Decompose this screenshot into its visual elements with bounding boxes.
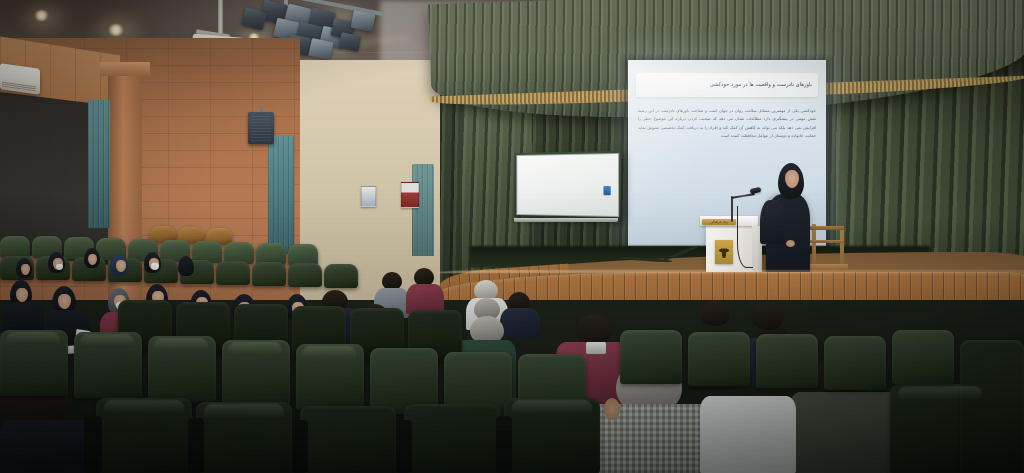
downlight-icon [108, 24, 124, 36]
auditorium-seat[interactable] [620, 330, 682, 384]
whiteboard-surface[interactable] [516, 153, 619, 217]
seat-highlight [80, 334, 134, 346]
audience-person-head [178, 256, 194, 276]
slide-title-band: باورهای نادرست و واقعیت ها در مورد خودکش… [636, 73, 818, 97]
audience-person-torso [790, 392, 900, 473]
wall-notice [361, 186, 376, 207]
wall-notice [401, 182, 419, 208]
audience-person-head [752, 302, 784, 330]
stage-edge-highlight [437, 270, 1024, 273]
auditorium-seat[interactable] [756, 334, 818, 388]
audience-person-hand [604, 398, 620, 420]
microphone-stem [731, 196, 733, 222]
chair-backrest-top [810, 226, 844, 230]
seat-highlight [154, 338, 208, 350]
seat-armrest [292, 420, 308, 473]
seat-highlight [104, 400, 184, 414]
auditorium-seat[interactable] [0, 236, 30, 258]
seat-armrest [188, 418, 204, 473]
side-window-curtain [412, 164, 434, 256]
projector-mount-rod [218, 0, 223, 34]
audience-person-head [474, 280, 498, 300]
seat-highlight [228, 342, 282, 354]
microphone-cable [737, 206, 753, 268]
auditorium-seat[interactable] [404, 404, 500, 473]
wall-speaker-icon [248, 112, 274, 144]
chair-backrest-slat [810, 240, 844, 243]
whiteboard-tray [514, 218, 618, 222]
seat-highlight [204, 404, 284, 418]
auditorium-seat[interactable] [252, 262, 286, 286]
audience-person-torso [700, 396, 796, 473]
speaker-grille [251, 115, 271, 141]
presenter-chador-drape [760, 200, 784, 244]
shirt-collar [586, 342, 606, 354]
side-window-curtain [88, 100, 110, 228]
seat-armrest [496, 416, 512, 473]
podium-plaque-text: بنیاد فرهنگی [710, 220, 728, 224]
auditorium-seat[interactable] [960, 340, 1024, 473]
slide-title-text: باورهای نادرست و واقعیت ها در مورد خودکش… [710, 82, 812, 88]
auditorium-seat[interactable] [324, 264, 358, 288]
seat-highlight [302, 346, 356, 358]
whiteboard[interactable] [514, 151, 621, 219]
auditorium-seat[interactable] [288, 263, 322, 287]
seat-armrest [84, 416, 102, 473]
face-mask-icon [151, 263, 159, 270]
emblem-mark-icon [718, 244, 731, 261]
seat-armrest [396, 420, 412, 473]
wall-column-capital [100, 62, 150, 76]
auditorium-photo: باورهای نادرست و واقعیت ها در مورد خودکش… [0, 0, 1024, 473]
side-window-curtain [268, 136, 294, 254]
auditorium-seat[interactable] [688, 332, 750, 386]
stage-spotlight [350, 10, 375, 32]
face-mask-icon [56, 264, 63, 270]
seat-highlight [6, 332, 60, 344]
auditorium-seat[interactable] [300, 406, 396, 473]
seat-highlight [512, 400, 592, 414]
whiteboard-magnet-icon [603, 186, 610, 195]
auditorium-seat[interactable] [216, 261, 250, 285]
auditorium-seat[interactable] [892, 330, 954, 384]
seat-highlight [898, 386, 982, 400]
downlight-icon [34, 10, 49, 21]
auditorium-seat[interactable] [824, 336, 886, 390]
audience-person-torso [500, 308, 540, 338]
podium-emblem [715, 240, 733, 264]
presenter-hand [786, 240, 795, 247]
audience-person-head [700, 300, 730, 326]
